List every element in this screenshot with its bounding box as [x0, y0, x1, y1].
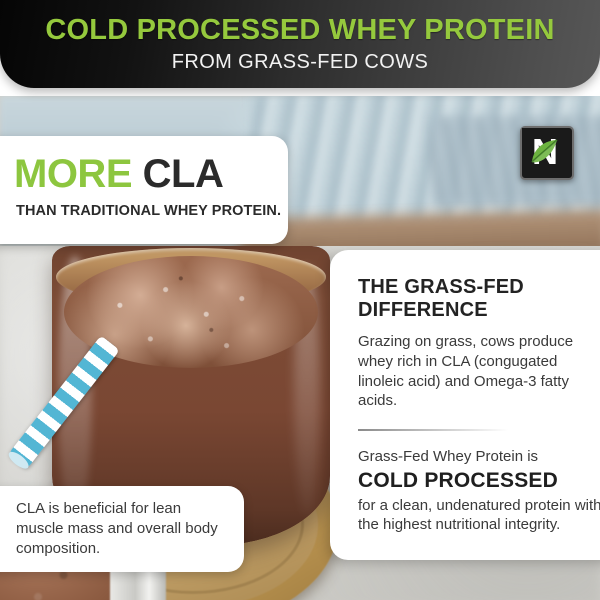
more-cla-card: MORE CLA THAN TRADITIONAL WHEY PROTEIN. [0, 136, 288, 244]
panel-body: Grazing on grass, cows produce whey rich… [358, 332, 600, 411]
caption-card: CLA is beneficial for lean muscle mass a… [0, 486, 244, 572]
poster-canvas: COLD PROCESSED WHEY PROTEIN FROM GRASS-F… [0, 0, 600, 600]
panel-lead: Grass-Fed Whey Protein is [358, 447, 600, 467]
info-panel: THE GRASS-FED DIFFERENCE Grazing on gras… [330, 250, 600, 560]
panel-tail: for a clean, undenatured protein with th… [358, 496, 600, 535]
panel-divider [358, 429, 508, 431]
more-cla-headline: MORE CLA [14, 154, 288, 194]
header-banner: COLD PROCESSED WHEY PROTEIN FROM GRASS-F… [0, 0, 600, 88]
more-cla-word-green: MORE [14, 152, 132, 196]
caption-text: CLA is beneficial for lean muscle mass a… [16, 499, 228, 558]
panel-heading: THE GRASS-FED DIFFERENCE [358, 276, 600, 322]
page-title: COLD PROCESSED WHEY PROTEIN [45, 16, 554, 45]
page-subtitle: FROM GRASS-FED COWS [172, 52, 429, 72]
panel-emphasis: COLD PROCESSED [358, 469, 600, 493]
more-cla-subtitle: THAN TRADITIONAL WHEY PROTEIN. [16, 203, 288, 220]
brand-logo: N [520, 126, 574, 180]
logo-mark: N [522, 128, 568, 174]
more-cla-word-dark: CLA [143, 152, 224, 196]
photo-cloth-secondary [430, 116, 600, 206]
